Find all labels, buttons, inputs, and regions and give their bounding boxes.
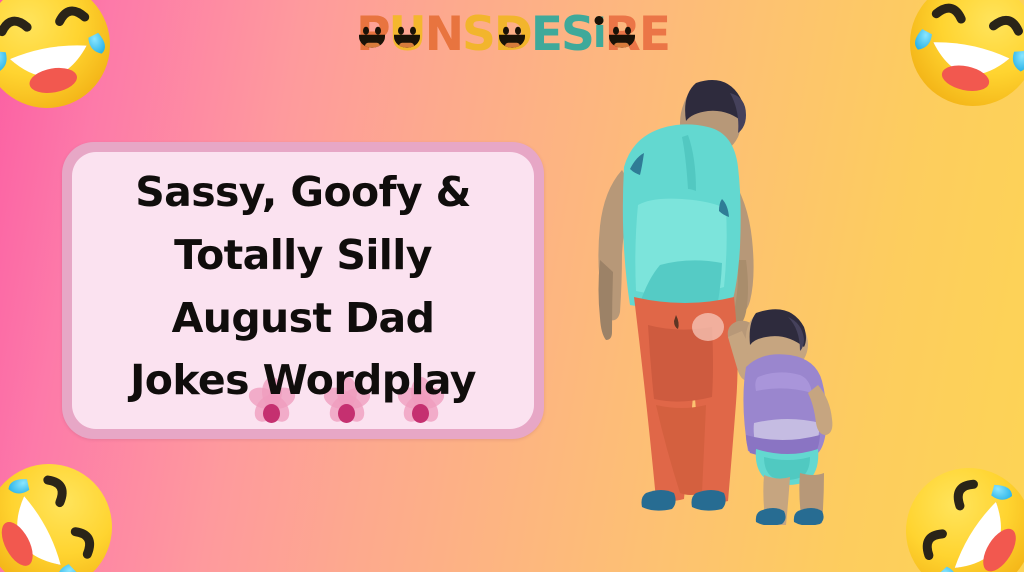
logo-letter-s-3: S xyxy=(462,11,494,58)
smiley-face-icon xyxy=(495,20,529,54)
emoji-laughing-tears-icon xyxy=(0,0,134,132)
logo-letter-i-7: i xyxy=(593,14,605,54)
emoji-laughing-tears-icon xyxy=(866,428,1024,572)
logo-letter-n-2: N xyxy=(425,11,462,58)
page-title-line-3: Jokes Wordplay xyxy=(130,349,476,412)
smiley-face-icon xyxy=(355,20,389,54)
logo-i-dot-icon xyxy=(593,15,604,26)
site-logo[interactable]: PUNSDESiRE xyxy=(345,6,680,62)
logo-letter-r-8: R xyxy=(605,11,639,58)
smiley-face-icon xyxy=(605,20,639,54)
page-title: Sassy, Goofy &Totally SillyAugust DadJok… xyxy=(122,161,484,412)
father-and-child-illustration xyxy=(560,75,870,525)
logo-letter-p-0: P xyxy=(356,11,388,58)
emoji-laughing-tears-icon xyxy=(0,426,150,572)
logo-letter-u-1: U xyxy=(389,11,425,58)
child-figure xyxy=(728,309,832,525)
blog-banner: PUNSDESiRE Sassy, Goofy &Totally SillyAu… xyxy=(0,0,1024,572)
logo-letter-e-5: E xyxy=(531,11,561,58)
smiley-face-icon xyxy=(390,20,424,54)
title-card-inner: Sassy, Goofy &Totally SillyAugust DadJok… xyxy=(72,152,534,429)
page-title-line-1: Totally Silly xyxy=(130,224,476,287)
page-title-line-0: Sassy, Goofy & xyxy=(130,161,476,224)
logo-letter-d-4: D xyxy=(494,11,531,58)
father-figure xyxy=(598,80,756,511)
title-card: Sassy, Goofy &Totally SillyAugust DadJok… xyxy=(62,142,544,439)
logo-letter-e-9: E xyxy=(639,11,669,58)
logo-letter-s-6: S xyxy=(561,11,593,58)
page-title-line-2: August Dad xyxy=(130,287,476,350)
emoji-laughing-tears-icon xyxy=(884,0,1024,132)
